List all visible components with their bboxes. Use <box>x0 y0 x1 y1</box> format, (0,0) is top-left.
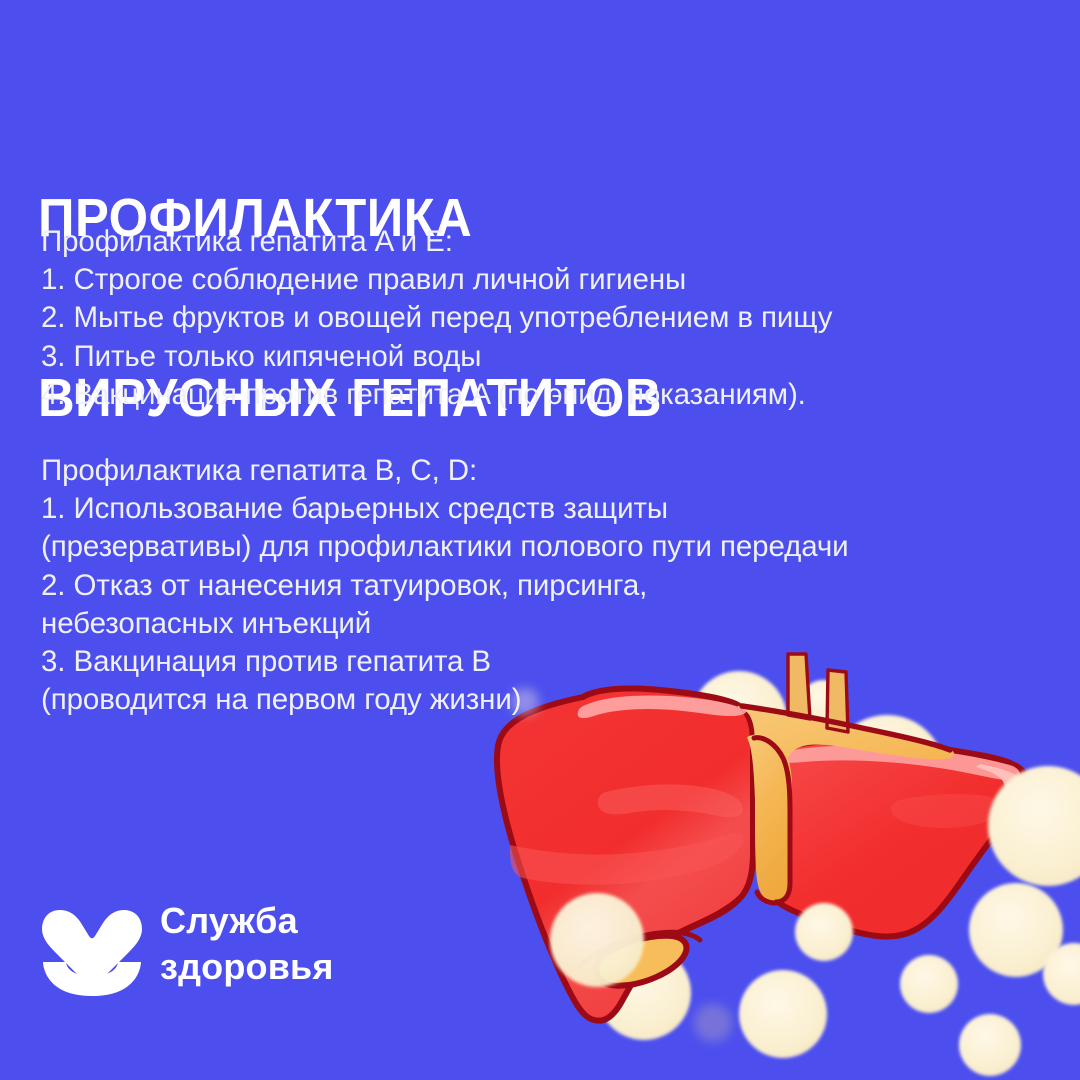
block-b-item-2-cont: небезопасных инъекций <box>41 605 1051 643</box>
bubble <box>795 903 853 961</box>
guidelines-block-hepatitis-bcd: Профилактика гепатита B, C, D: 1. Исполь… <box>41 452 1051 719</box>
block-a-heading: Профилактика гепатита A и E: <box>41 223 1051 261</box>
bubble <box>900 955 958 1013</box>
block-b-item-1: 1. Использование барьерных средств защит… <box>41 490 1051 528</box>
block-a-item-2: 2. Мытье фруктов и овощей перед употребл… <box>41 299 1051 337</box>
block-a-item-4: 4. Вакцинация против гепатита A (по эпид… <box>41 376 1051 414</box>
brand-name-line-2: здоровья <box>160 944 334 990</box>
brand-name: Служба здоровья <box>160 898 334 990</box>
brand-logo: Служба здоровья <box>40 898 400 1003</box>
block-a-item-3: 3. Питье только кипяченой воды <box>41 338 1051 376</box>
block-b-heading: Профилактика гепатита B, C, D: <box>41 452 1051 490</box>
block-b-item-1-cont: (презервативы) для профилактики полового… <box>41 528 1051 566</box>
bubble-accent <box>694 1004 732 1042</box>
block-b-item-2: 2. Отказ от нанесения татуировок, пирсин… <box>41 567 1051 605</box>
block-b-item-3: 3. Вакцинация против гепатита B <box>41 643 1051 681</box>
heart-smile-icon <box>40 904 144 996</box>
brand-name-line-1: Служба <box>160 898 334 944</box>
bubble <box>739 970 827 1058</box>
block-a-item-1: 1. Строгое соблюдение правил личной гиги… <box>41 261 1051 299</box>
bubble <box>550 893 644 987</box>
block-b-item-3-cont: (проводится на первом году жизни) <box>41 681 1051 719</box>
block-separator <box>41 414 1051 452</box>
infographic-poster: ПРОФИЛАКТИКА ВИРУСНЫХ ГЕПАТИТОВ Профилак… <box>0 0 1080 1080</box>
bubble <box>959 1014 1021 1076</box>
prevention-guidelines: Профилактика гепатита A и E: 1. Строгое … <box>41 223 1051 719</box>
guidelines-block-hepatitis-ae: Профилактика гепатита A и E: 1. Строгое … <box>41 223 1051 414</box>
